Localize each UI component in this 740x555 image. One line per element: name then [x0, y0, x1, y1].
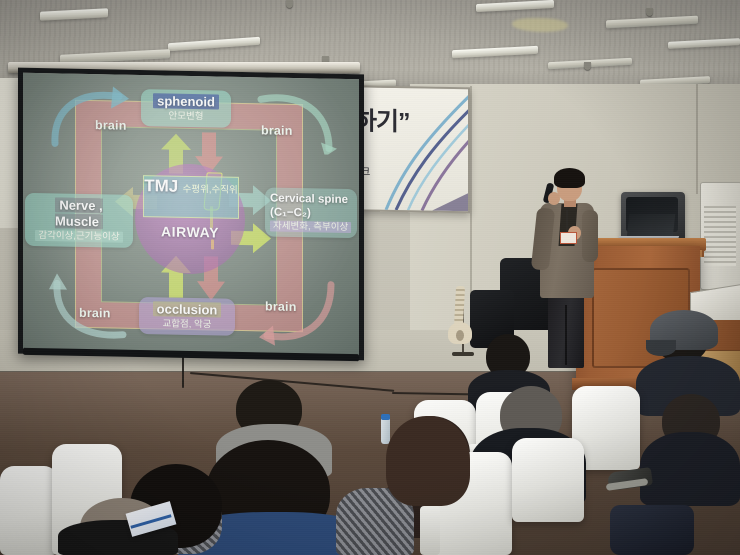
curve-arrow-top-right	[255, 85, 337, 155]
lanyard	[566, 210, 568, 232]
spine-model-base	[452, 352, 474, 356]
slide-node-cervical-en2: (C₁−C₂)	[270, 206, 352, 222]
presenter-leg-seam	[565, 305, 567, 365]
bottle-cap	[381, 414, 390, 420]
audience-head	[386, 416, 470, 506]
slide-node-occlusion-ko: 교합점, 악궁	[145, 317, 229, 332]
slide-airway-label: AIRWAY	[143, 223, 237, 241]
presenter-hand-holding-mic	[548, 192, 560, 205]
cap-brim	[646, 340, 676, 356]
slide-node-nerve-en: Nerve , Muscle	[31, 197, 127, 231]
slide-node-sphenoid-ko: 안모변형	[147, 109, 225, 123]
chair[interactable]	[512, 438, 584, 522]
spine-model-pelvis	[448, 322, 472, 344]
slide-node-cervical-en: Cervical spine	[270, 192, 352, 208]
slide-label-brain-top-right: brain	[261, 123, 293, 138]
glasses-icon	[556, 182, 580, 188]
slide-node-sphenoid: sphenoid 안모변형	[141, 89, 231, 128]
slide-label-brain-bottom-left: brain	[79, 306, 111, 321]
slide-tmj-korean: 수평위,수직위	[183, 184, 238, 196]
screen-frame: brain brain brain brain	[18, 68, 364, 361]
audience-shoulders	[640, 432, 740, 506]
tooth-marker-icon	[211, 239, 214, 249]
sprinkler-head	[286, 0, 293, 8]
projection-screen: brain brain brain brain	[8, 62, 360, 352]
sprinkler-head	[584, 62, 591, 70]
slide-node-cervical-ko: 자세변화, 측부이상	[270, 220, 352, 235]
slide-tmj-box: TMJ 수평위,수직위	[143, 175, 239, 219]
slide-node-nerve-muscle: Nerve , Muscle 감각이상,근기능이상	[25, 193, 133, 248]
slide-node-occlusion-en: occlusion	[145, 301, 229, 319]
slide-node-cervical-spine: Cervical spine (C₁−C₂) 자세변화, 측부이상	[265, 187, 357, 238]
chair[interactable]	[0, 466, 58, 555]
slide-node-sphenoid-en: sphenoid	[147, 93, 225, 110]
screen-surface: brain brain brain brain	[23, 73, 359, 355]
banner-left-headline: 베	[0, 88, 1, 122]
wall-seam	[696, 84, 698, 194]
water-bottle[interactable]	[381, 418, 390, 444]
name-badge	[560, 232, 577, 244]
slide-label-brain-bottom-right: brain	[265, 299, 297, 314]
lecture-hall-photo: 베 | 2( 절균 근하기” 원 오테크	[0, 0, 740, 555]
curve-arrow-top-left	[47, 81, 129, 151]
wall-seam	[470, 86, 472, 296]
chair-armrest	[420, 506, 440, 555]
laptop-lid[interactable]	[627, 214, 676, 238]
backpack	[610, 505, 694, 555]
presenter-right-arm	[582, 210, 598, 262]
sprinkler-head	[646, 8, 653, 16]
slide-node-occlusion: occlusion 교합점, 악궁	[139, 297, 235, 336]
projected-slide: brain brain brain brain	[23, 73, 359, 355]
slide-label-brain-top-left: brain	[95, 118, 127, 133]
slide-node-nerve-ko: 감각이상,근기능이상	[31, 229, 127, 244]
air-conditioner-grill	[704, 206, 736, 266]
slide-tmj-label: TMJ	[144, 176, 178, 196]
